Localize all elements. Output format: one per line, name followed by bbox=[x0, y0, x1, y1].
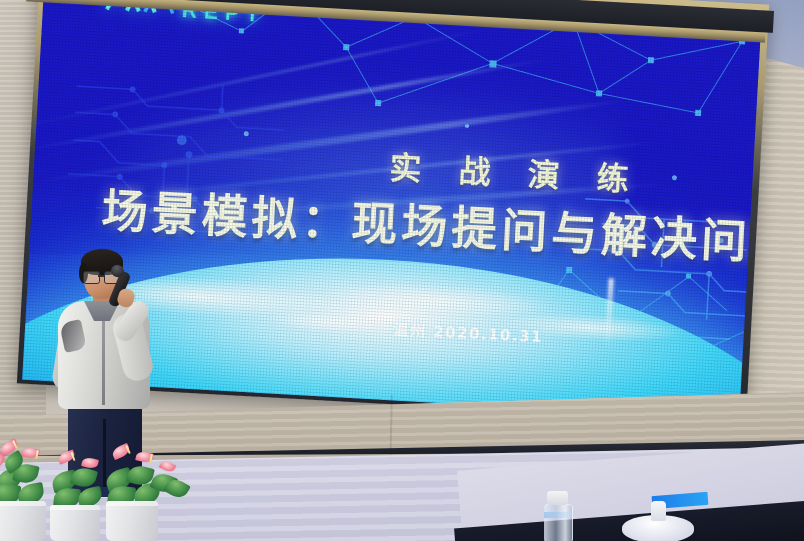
flower-pot bbox=[0, 501, 46, 541]
flower-pot bbox=[50, 505, 100, 541]
flower-pot bbox=[106, 501, 158, 541]
slide-footer-location-date: 温州 2020.10.31 bbox=[393, 319, 543, 347]
speaker-person bbox=[52, 247, 174, 447]
slide-title-line-2: 场景模拟：现场提问与解决问题。 bbox=[100, 174, 762, 277]
presentation-room-photo: 瑞浦能源 REPT 实 战 演 练 场景模拟：现场提问与解决问题。 温州 202… bbox=[0, 0, 804, 541]
lidded-cup bbox=[622, 501, 694, 541]
potted-plants-group bbox=[0, 418, 209, 541]
speaker-jacket-zipper bbox=[102, 317, 105, 405]
water-bottle bbox=[541, 491, 574, 541]
